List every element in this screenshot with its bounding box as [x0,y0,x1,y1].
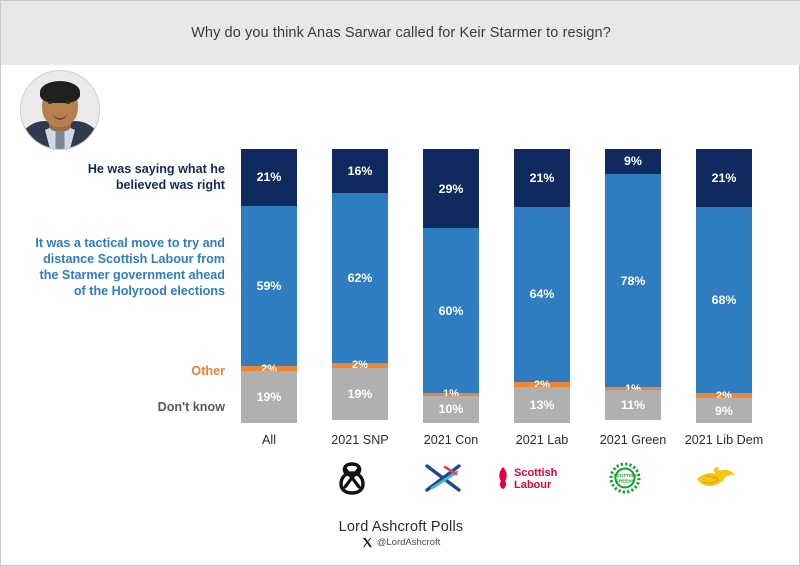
x-axis-label-2021-snp: 2021 SNP [314,433,406,447]
handle-text: @LordAshcroft [377,537,441,548]
bar-segment-2021-lab-he-was-saying-what-he-be: 21% [514,149,570,207]
page-title: Why do you think Anas Sarwar called for … [191,25,611,41]
x-axis-labels: All2021 SNP2021 Con2021 Lab2021 Green202… [233,433,793,453]
avatar-eye-left [48,101,52,104]
party-logos: Scottish Labour SCOTTISH GREENS [233,456,793,500]
avatar-tie [56,129,65,149]
bar-value-label: 10% [439,402,464,416]
bar-column-2021-lib-dem: 21%68%2%9% [696,149,752,423]
x-axis-label-2021-con: 2021 Con [405,433,497,447]
bar-value-label: 13% [530,398,555,412]
bar-segment-2021-lib-dem-don-t-know: 9% [696,398,752,423]
legend-label-dont-know: Don't know [55,399,225,415]
scottish-conservatives-logo-icon [397,456,489,500]
bar-column-2021-lab: 21%64%2%13% [514,149,570,423]
bar-segment-2021-snp-don-t-know: 19% [332,368,388,420]
bar-column-2021-snp: 16%62%2%19% [332,149,388,423]
bar-segment-2021-green-don-t-know: 11% [605,390,661,420]
bar-value-label: 11% [621,398,645,412]
bar-value-label: 9% [715,404,733,418]
bar-value-label: 68% [712,293,737,307]
chart-header: Why do you think Anas Sarwar called for … [1,1,800,65]
avatar-photo [21,71,99,149]
bar-column-all: 21%59%2%19% [241,149,297,423]
stacked-bar-plot: 21%59%2%19%16%62%2%19%29%60%1%10%21%64%2… [233,149,793,425]
bar-segment-2021-lab-don-t-know: 13% [514,387,570,423]
avatar [20,70,100,150]
bar-segment-all-don-t-know: 19% [241,371,297,423]
bar-value-label: 64% [530,287,555,301]
legend: He was saying what he believed was right… [1,149,233,425]
bar-segment-all-he-was-saying-what-he-be: 21% [241,149,297,206]
bar-column-2021-con: 29%60%1%10% [423,149,479,423]
bar-segment-2021-con-it-was-a-tactical-move-t: 60% [423,228,479,392]
footer: Lord Ashcroft Polls @LordAshcroft [1,519,800,559]
bar-value-label: 29% [439,182,464,196]
bar-segment-2021-lib-dem-he-was-saying-what-he-be: 21% [696,149,752,207]
x-axis-label-2021-lib-dem: 2021 Lib Dem [678,433,770,447]
avatar-hair [40,81,80,103]
bar-value-label: 19% [348,387,373,401]
bar-segment-2021-lab-it-was-a-tactical-move-t: 64% [514,207,570,382]
liberal-democrats-logo-icon [670,456,762,500]
x-axis-label-all: All [223,433,315,447]
bar-segment-2021-lib-dem-it-was-a-tactical-move-t: 68% [696,207,752,393]
logo-all [215,456,307,500]
snp-logo-icon [306,456,398,500]
bar-value-label: 21% [712,171,737,185]
bar-segment-2021-con-he-was-saying-what-he-be: 29% [423,149,479,228]
chart-card: Why do you think Anas Sarwar called for … [0,0,800,566]
bar-segment-all-it-was-a-tactical-move-t: 59% [241,206,297,366]
bar-value-label: 62% [348,271,373,285]
svg-text:GREENS: GREENS [615,479,634,484]
bar-value-label: 16% [348,164,373,178]
avatar-eye-right [66,101,70,104]
bar-value-label: 60% [439,304,464,318]
scottish-greens-logo-icon: SCOTTISH GREENS [579,456,671,500]
brand-title: Lord Ashcroft Polls [339,519,464,535]
legend-label-believed-right: He was saying what he believed was right [45,161,225,193]
svg-text:Labour: Labour [514,479,552,491]
social-handle: @LordAshcroft [362,537,441,548]
legend-label-tactical-move: It was a tactical move to try and distan… [29,235,225,299]
legend-label-other: Other [55,363,225,379]
bar-value-label: 78% [621,274,646,288]
bar-value-label: 21% [530,171,555,185]
bar-column-2021-green: 9%78%1%11% [605,149,661,423]
svg-text:Scottish: Scottish [514,467,558,479]
x-axis-label-2021-green: 2021 Green [587,433,679,447]
x-logo-icon [362,537,373,548]
bar-segment-2021-green-he-was-saying-what-he-be: 9% [605,149,661,174]
bar-value-label: 59% [257,279,282,293]
bar-segment-2021-green-it-was-a-tactical-move-t: 78% [605,174,661,388]
svg-text:SCOTTISH: SCOTTISH [613,473,637,478]
bar-value-label: 21% [257,170,282,184]
bar-value-label: 19% [257,390,282,404]
bar-segment-2021-snp-it-was-a-tactical-move-t: 62% [332,193,388,363]
bar-value-label: 9% [624,154,642,168]
bar-segment-2021-con-don-t-know: 10% [423,396,479,423]
x-axis-label-2021-lab: 2021 Lab [496,433,588,447]
scottish-labour-logo-icon: Scottish Labour [488,456,580,500]
bar-segment-2021-snp-he-was-saying-what-he-be: 16% [332,149,388,193]
